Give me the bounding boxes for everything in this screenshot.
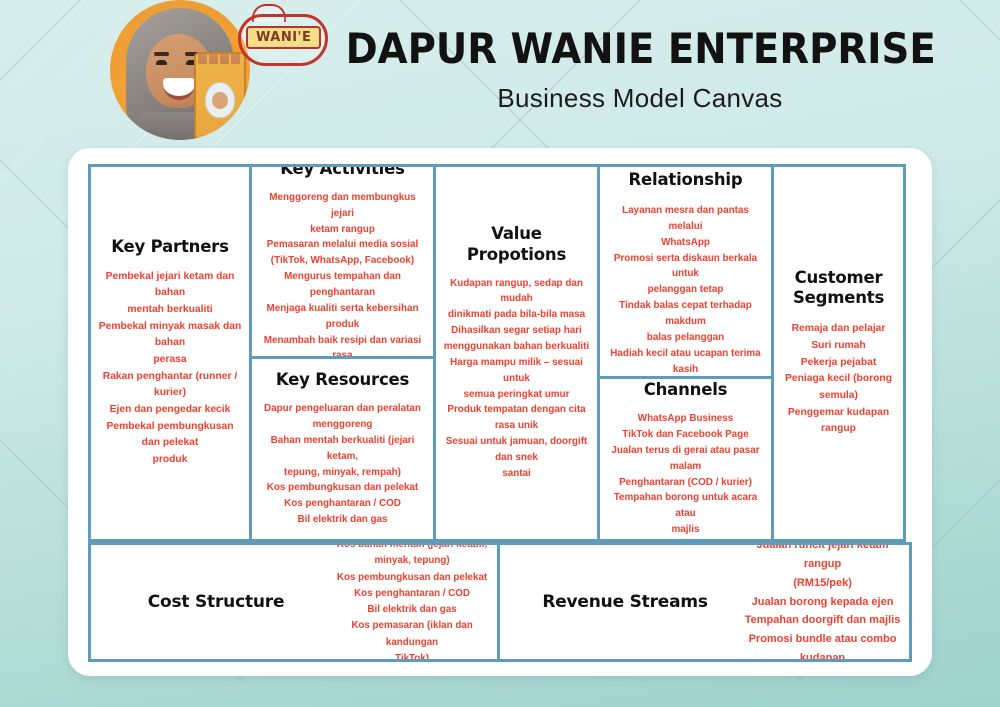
list-item: Layanan mesra dan pantas melalui [607,203,764,235]
key-resources-title: Key Resources [276,370,409,390]
list-item: Jualan runcit jejari ketam rangup [743,542,902,574]
list-item: WhatsApp Business [607,411,764,427]
list-item: mentah berkualiti [98,302,242,319]
list-item: Ejen dan pengedar kecik [98,402,242,419]
column-key-activities-resources: Key Activities Menggoreng dan membungkus… [249,164,436,542]
list-item: Pembekal pembungkusan dan pelekat [98,419,242,452]
list-item: Kos penghantaran / COD [334,586,490,602]
list-item: Jualan terus di gerai atau pasar malam [607,443,764,475]
list-item: Suri rumah [781,338,896,355]
list-item: (RM15/pek) [743,574,902,593]
list-item: produk [98,452,242,469]
brand-logo: WANI'E [104,0,304,144]
list-item: TikTok) [334,651,490,662]
list-item: Dapur pengeluaran dan peralatan [259,401,426,417]
page-title: DAPUR WANIE ENTERPRISE [346,28,935,71]
title-block: DAPUR WANIE ENTERPRISE Business Model Ca… [320,28,960,114]
list-item: Produk tempatan dengan cita rasa unik [443,402,590,434]
cost-structure-title: Cost Structure [98,592,334,612]
eyebrow-left-icon [154,52,169,56]
canvas-top-row: Key Partners Pembekal jejari ketam dan b… [88,164,912,542]
list-item: menggoreng [259,417,426,433]
list-item: Bil elektrik dan gas [334,602,490,618]
key-resources-list: Dapur pengeluaran dan peralatanmenggoren… [259,401,426,528]
wanie-logo-badge: WANI'E [232,4,328,66]
list-item: Pekerja pejabat [781,355,896,372]
key-activities-title: Key Activities [280,164,404,179]
list-item: tepung, minyak, rempah) [259,465,426,481]
list-item: Harga mampu milik – sesuai untuk [443,355,590,387]
list-item: WhatsApp [607,235,764,251]
block-customer-segments[interactable]: Customer Segments Remaja dan pelajarSuri… [771,164,906,542]
list-item: ketam rangup [259,222,426,238]
key-partners-title: Key Partners [111,237,229,257]
customer-segments-title-line1: Customer [795,268,883,287]
list-item: Bil elektrik dan gas [259,512,426,528]
list-item: Dihasilkan segar setiap hari [443,323,590,339]
smile-icon [163,78,195,100]
list-item: santai [443,466,590,482]
list-item: Promosi serta diskaun berkala untuk [607,251,764,283]
revenue-streams-list: Jualan runcit jejari ketam rangup(RM15/p… [743,542,902,662]
block-key-partners[interactable]: Key Partners Pembekal jejari ketam dan b… [88,164,252,542]
list-item: Rakan penghantar (runner / kurier) [98,369,242,402]
list-item: pelanggan tetap [607,282,764,298]
list-item: Bahan mentah berkualiti (jejari ketam, [259,433,426,465]
customer-relationship-title: Customer Relationship [629,164,743,190]
list-item: (TikTok, WhatsApp, Facebook) [259,253,426,269]
list-item: Kos pemasaran (iklan dan kandungan [334,618,490,651]
key-activities-list: Menggoreng dan membungkus jejariketam ra… [259,190,426,359]
column-customer-segments: Customer Segments Remaja dan pelajarSuri… [771,164,906,542]
list-item: produk [259,317,426,333]
value-propositions-title: Value Propotions [443,224,590,264]
list-item: balas pelanggan [607,330,764,346]
channels-title: Channels [644,380,728,400]
key-partners-list: Pembekal jejari ketam dan bahanmentah be… [98,269,242,469]
block-value-propositions[interactable]: Value Propotions Kudapan rangup, sedap d… [433,164,600,542]
list-item: Menjaga kualiti serta kebersihan [259,301,426,317]
column-relationship-channels: Customer Relationship Layanan mesra dan … [597,164,774,542]
list-item: majlis [607,522,764,538]
block-customer-relationship[interactable]: Customer Relationship Layanan mesra dan … [597,164,774,379]
package-label [205,82,235,118]
cost-structure-list: Kos bahan mentah (jejari ketam,minyak, t… [334,542,490,662]
block-key-resources[interactable]: Key Resources Dapur pengeluaran dan pera… [249,356,436,542]
block-cost-structure[interactable]: Cost Structure Kos bahan mentah (jejari … [88,542,500,662]
list-item: Menggoreng dan membungkus jejari [259,190,426,222]
list-item: Mengurus tempahan dan penghantaran [259,269,426,301]
list-item: Remaja dan pelajar [781,321,896,338]
customer-relationship-list: Layanan mesra dan pantas melaluiWhatsApp… [607,203,764,379]
list-item: Sesuai untuk jamuan, doorgift dan snek [443,434,590,466]
list-item: Kos pembungkusan dan pelekat [334,570,490,586]
customer-relationship-title-line2: Relationship [629,170,743,189]
customer-segments-title: Customer Segments [793,268,884,308]
list-item: Kudapan rangup, sedap dan mudah [443,276,590,308]
list-item: TikTok dan Facebook Page [607,427,764,443]
value-propositions-list: Kudapan rangup, sedap dan mudahdinikmati… [443,276,590,482]
business-model-canvas: Key Partners Pembekal jejari ketam dan b… [68,148,932,676]
list-item: menggunakan bahan berkualiti [443,339,590,355]
revenue-streams-title: Revenue Streams [507,592,743,612]
list-item: semua peringkat umur [443,387,590,403]
list-item: perasa [98,352,242,369]
list-item: Tempahan borong untuk acara atau [607,490,764,522]
channels-list: WhatsApp BusinessTikTok dan Facebook Pag… [607,411,764,538]
list-item: Pemasaran melalui media sosial [259,237,426,253]
list-item: minyak, tepung) [334,553,490,569]
page-subtitle: Business Model Canvas [320,83,960,114]
list-item: Penghantaran (COD / kurier) [607,475,764,491]
block-key-activities[interactable]: Key Activities Menggoreng dan membungkus… [249,164,436,359]
list-item: Peniaga kecil (borong semula) [781,371,896,404]
column-value-propositions: Value Propotions Kudapan rangup, sedap d… [433,164,600,542]
list-item: Pembekal minyak masak dan bahan [98,319,242,352]
block-revenue-streams[interactable]: Revenue Streams Jualan runcit jejari ket… [497,542,912,662]
list-item: dinikmati pada bila-bila masa [443,307,590,323]
list-item: Kos penghantaran / COD [259,496,426,512]
page-header: WANI'E DAPUR WANIE ENTERPRISE Business M… [0,0,1000,150]
founder-portrait-photo [110,0,250,140]
list-item: Promosi bundle atau combo kudapan [743,630,902,662]
package-mascot-icon [212,92,228,109]
logo-badge-text: WANI'E [246,26,321,49]
customer-relationship-title-line1: Customer [642,164,730,169]
list-item: Pembekal jejari ketam dan bahan [98,269,242,302]
list-item: Jualan borong kepada ejen [743,593,902,612]
customer-segments-title-line2: Segments [793,288,884,307]
list-item: Hadiah kecil atau ucapan terima kasih [607,346,764,378]
block-channels[interactable]: Channels WhatsApp BusinessTikTok dan Fac… [597,376,774,542]
list-item: Kos bahan mentah (jejari ketam, [334,542,490,553]
list-item: Tindak balas cepat terhadap makdum [607,298,764,330]
customer-segments-list: Remaja dan pelajarSuri rumahPekerja peja… [781,321,896,438]
eye-left-icon [156,60,167,65]
list-item: Tempahan doorgift dan majlis [743,611,902,630]
column-key-partners: Key Partners Pembekal jejari ketam dan b… [88,164,252,542]
list-item: Penggemar kudapan rangup [781,405,896,438]
canvas-bottom-row: Cost Structure Kos bahan mentah (jejari … [88,542,912,662]
list-item: Kos pembungkusan dan pelekat [259,480,426,496]
